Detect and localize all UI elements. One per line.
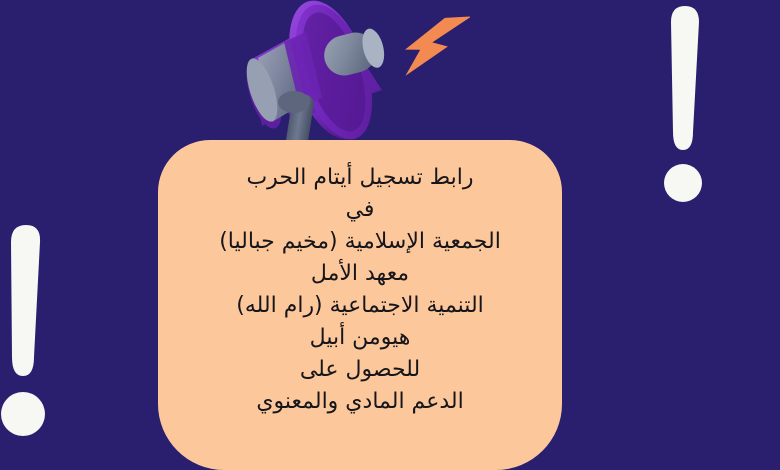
card-line-1: رابط تسجيل أيتام الحرب [174, 162, 546, 194]
announcement-poster: رابط تسجيل أيتام الحرب في الجمعية الإسلا… [0, 0, 780, 470]
exclamation-right-shape [662, 4, 708, 204]
lightning-bolt-icon [404, 10, 470, 80]
card-line-5: التنمية الاجتماعية (رام الله) [174, 290, 546, 322]
exclamation-left-shape [0, 222, 56, 442]
exclamation-mark-left-icon [8, 222, 56, 437]
exclamation-mark-right-icon [662, 4, 708, 204]
card-line-8: الدعم المادي والمعنوي [174, 386, 546, 418]
card-line-2: في [174, 194, 546, 226]
card-line-4: معهد الأمل [174, 258, 546, 290]
card-line-6: هيومن أبيل [174, 322, 546, 354]
announcement-text-block: رابط تسجيل أيتام الحرب في الجمعية الإسلا… [174, 162, 546, 418]
bolt-shape [404, 10, 470, 80]
card-line-3: الجمعية الإسلامية (مخيم جباليا) [174, 226, 546, 258]
card-line-7: للحصول على [174, 354, 546, 386]
announcement-card: رابط تسجيل أيتام الحرب في الجمعية الإسلا… [158, 140, 562, 470]
